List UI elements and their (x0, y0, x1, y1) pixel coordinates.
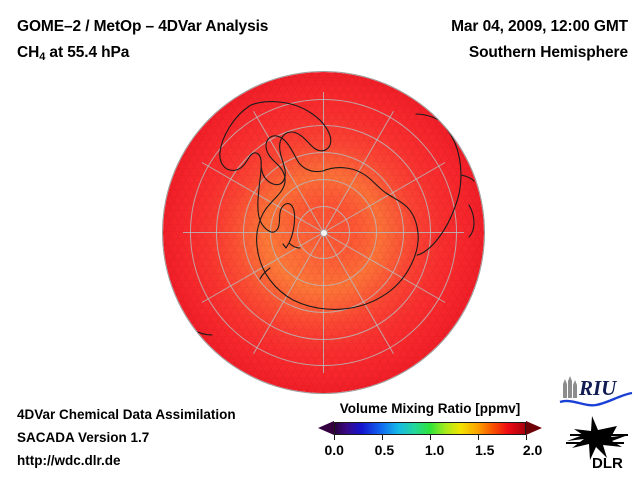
colorbar-cap-low-icon (318, 421, 334, 435)
footer-line-url: http://wdc.dlr.de (17, 449, 236, 472)
dlr-logo: DLR (562, 414, 636, 472)
figure-panel: GOME–2 / MetOp – 4DVar Analysis CH4 at 5… (0, 0, 640, 480)
colorbar-tick-label: 1.5 (475, 442, 494, 458)
coastline-africa (416, 114, 474, 255)
region-label: Southern Hemisphere (451, 40, 628, 66)
figure-title: GOME–2 / MetOp – 4DVar Analysis (17, 14, 268, 40)
coastline-limb-fragment (193, 330, 212, 335)
colorbar-ticks (334, 435, 526, 440)
colorbar: Volume Mixing Ratio [ppmv] 0.0 0.5 1.0 1… (316, 401, 544, 462)
colorbar-tick-label: 1.0 (425, 442, 444, 458)
colorbar-tick-label: 0.0 (325, 442, 344, 458)
colorbar-title: Volume Mixing Ratio [ppmv] (316, 401, 544, 416)
colorbar-tick-label: 2.0 (523, 442, 542, 458)
species-subscript: 4 (39, 51, 45, 63)
header-right: Mar 04, 2009, 12:00 GMT Southern Hemisph… (451, 14, 628, 66)
dlr-logo-text: DLR (592, 455, 623, 472)
riu-logo: RIU (558, 374, 634, 408)
globe-disc (163, 72, 484, 393)
colorbar-tick-label: 0.5 (375, 442, 394, 458)
species-suffix: at 55.4 hPa (45, 44, 129, 61)
datetime-label: Mar 04, 2009, 12:00 GMT (451, 14, 628, 40)
coastline-madagascar (469, 205, 474, 237)
south-pole-marker (321, 230, 327, 236)
dlr-mark-icon (566, 416, 628, 460)
colorbar-tick-labels: 0.0 0.5 1.0 1.5 2.0 (316, 442, 544, 462)
globe-map (163, 72, 484, 393)
species-level-label: CH4 at 55.4 hPa (17, 40, 268, 67)
riu-tower-icon (563, 376, 577, 398)
riu-logo-text: RIU (578, 376, 618, 400)
footer-left: 4DVar Chemical Data Assimilation SACADA … (17, 403, 236, 472)
footer-line-version: SACADA Version 1.7 (17, 426, 236, 449)
colorbar-row (316, 420, 544, 438)
header-left: GOME–2 / MetOp – 4DVar Analysis CH4 at 5… (17, 14, 268, 67)
colorbar-gradient (334, 422, 526, 435)
footer-line-method: 4DVar Chemical Data Assimilation (17, 403, 236, 426)
coastlines (193, 102, 474, 335)
coastline-south-america (220, 102, 331, 248)
species-prefix: CH (17, 44, 39, 61)
colorbar-cap-high-icon (526, 421, 542, 435)
